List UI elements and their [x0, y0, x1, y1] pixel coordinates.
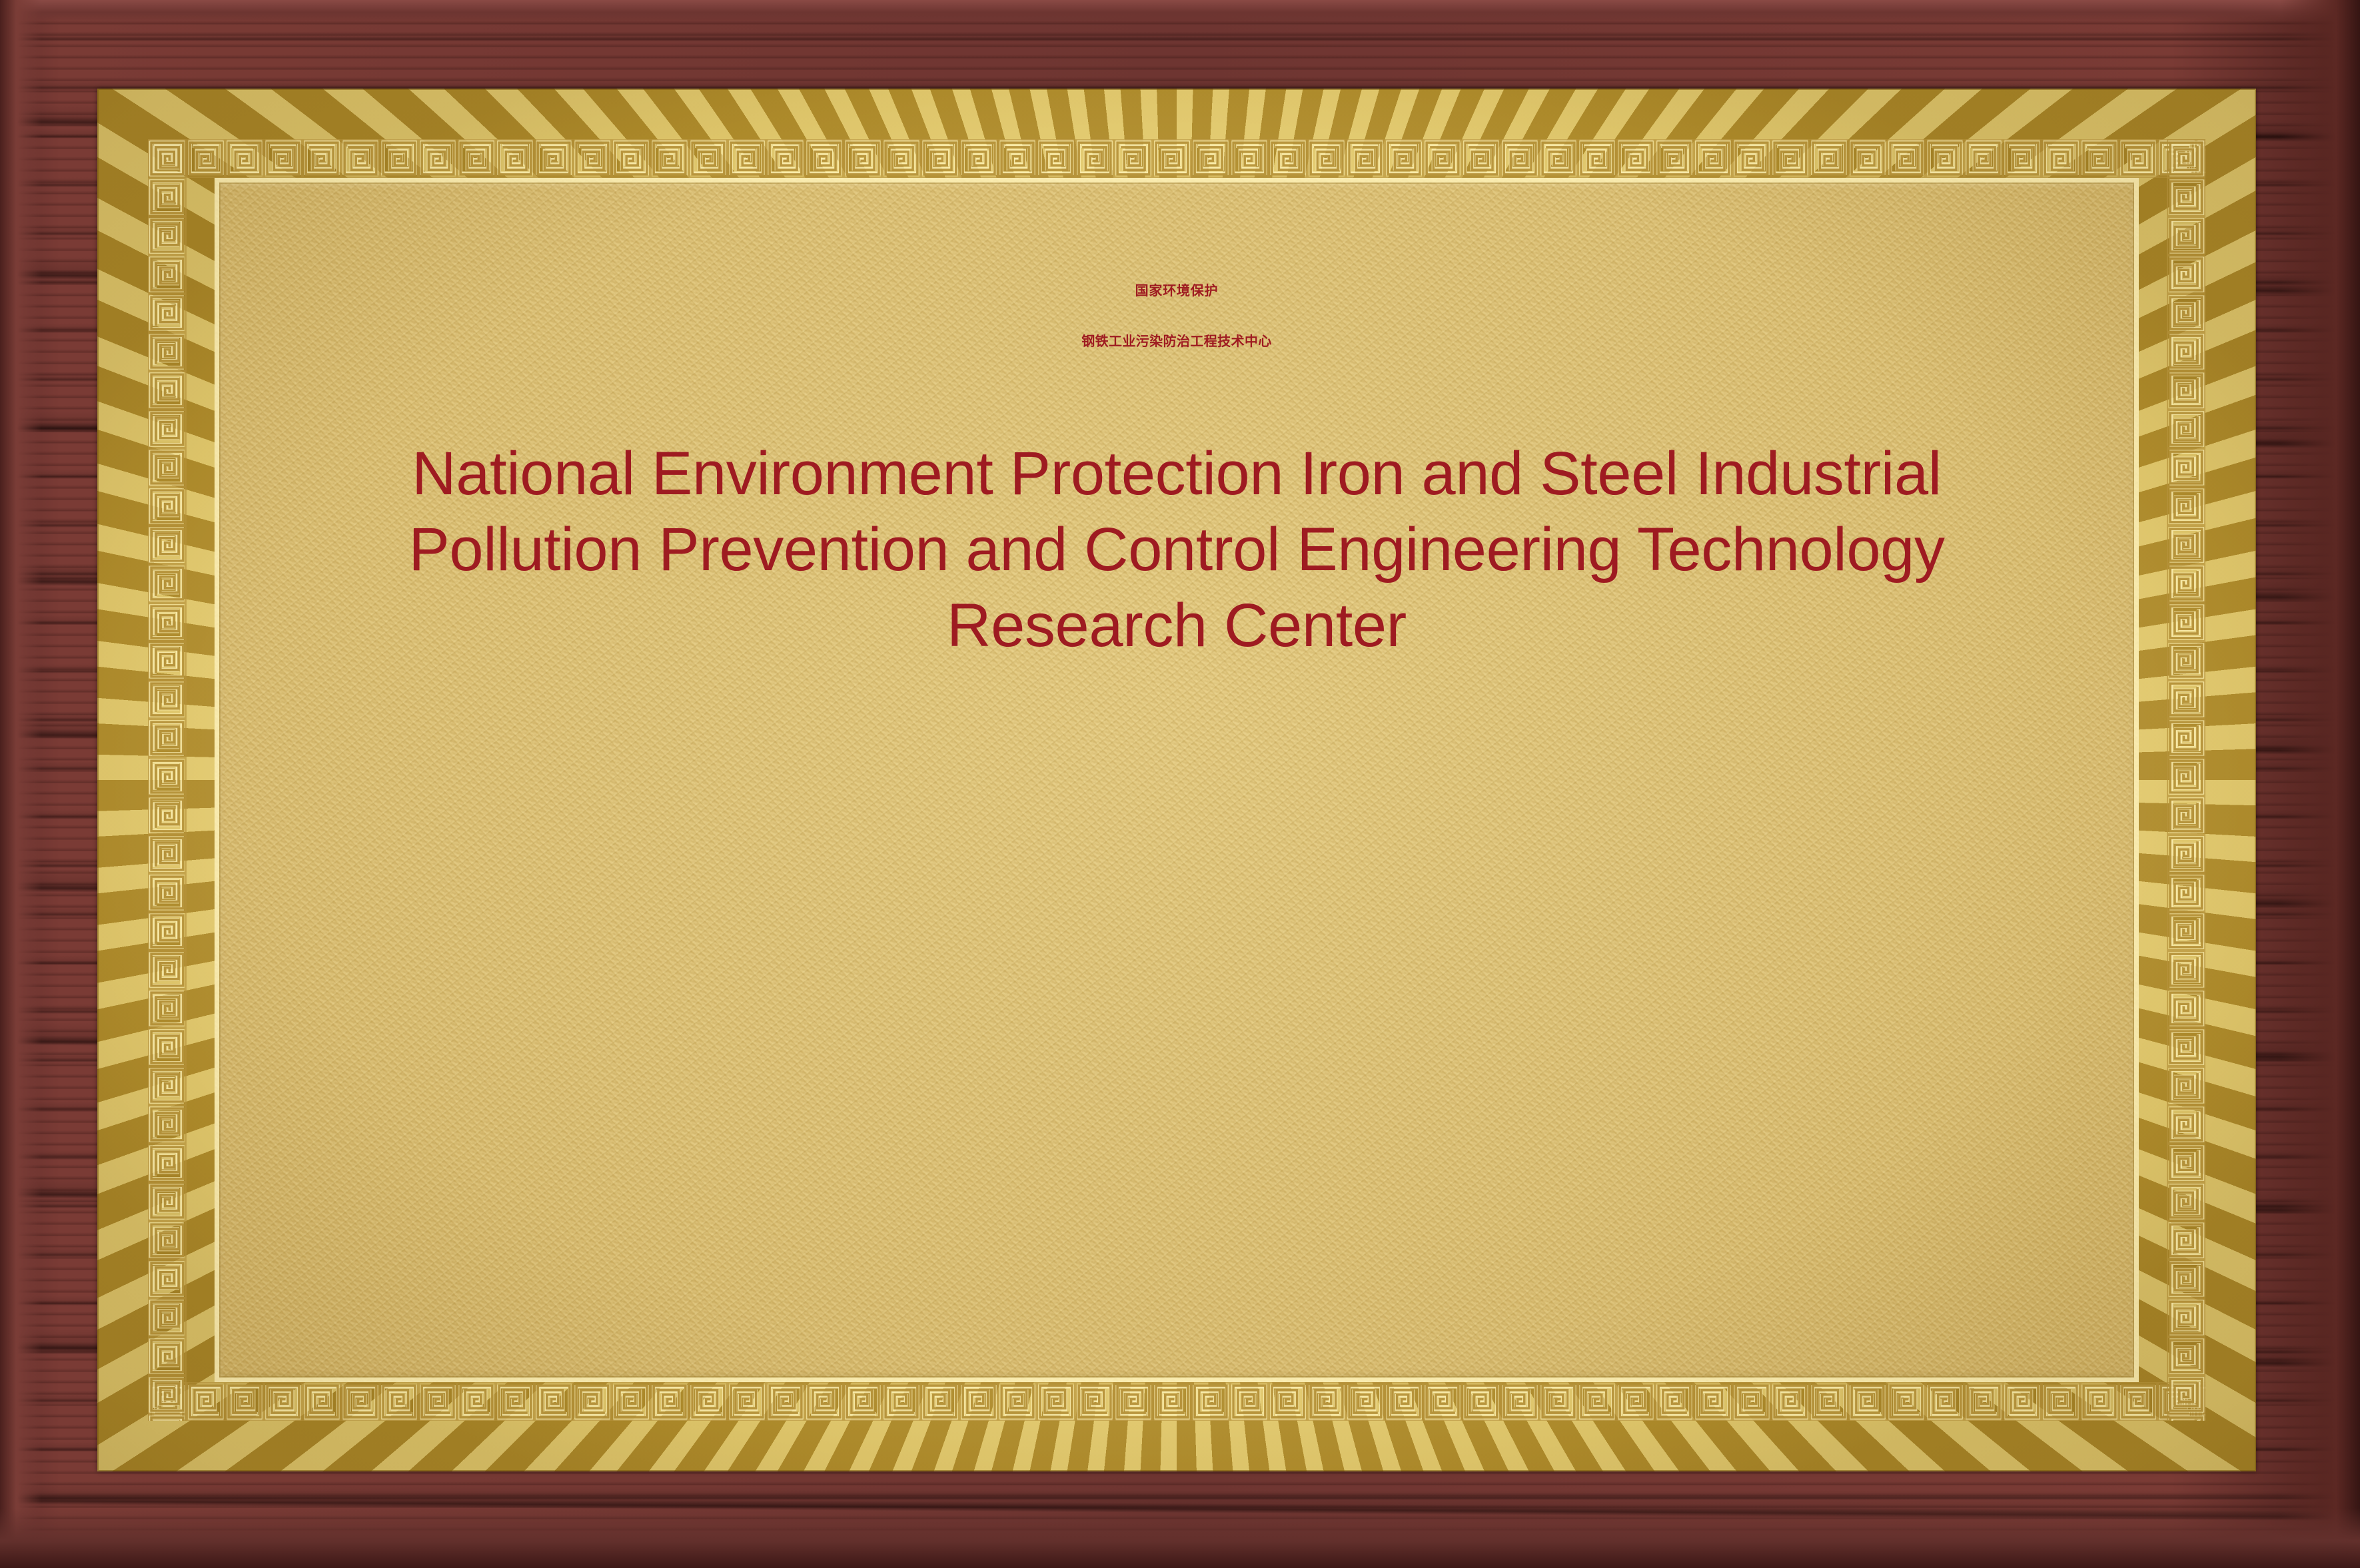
frame-bevel-right-edge [2280, 0, 2360, 1568]
frame-bevel-left-edge [0, 0, 41, 1568]
chinese-title-line-2: 钢铁工业污染防治工程技术中心 [219, 334, 2134, 348]
gold-plate: 国家环境保护 钢铁工业污染防治工程技术中心 National Environme… [97, 89, 2256, 1471]
meander-border-bottom [148, 1382, 2205, 1421]
english-subtitle-line-2: Pollution Prevention and Control Enginee… [306, 512, 2048, 588]
english-subtitle-line-1: National Environment Protection Iron and… [306, 436, 2048, 512]
inscription-text-stack: 国家环境保护 钢铁工业污染防治工程技术中心 National Environme… [219, 284, 2134, 663]
meander-border-left [148, 139, 187, 1421]
inscription-panel: 国家环境保护 钢铁工业污染防治工程技术中心 National Environme… [215, 178, 2139, 1382]
frame-bevel-bottom-edge [0, 1508, 2360, 1568]
english-subtitle-line-3: Research Center [306, 588, 2048, 663]
meander-border-top [148, 139, 2205, 178]
meander-border-right [2167, 139, 2205, 1421]
chinese-title-line-1: 国家环境保护 [219, 284, 2134, 297]
english-subtitle-block: National Environment Protection Iron and… [219, 436, 2134, 663]
plaque-wooden-frame: 国家环境保护 钢铁工业污染防治工程技术中心 National Environme… [0, 0, 2360, 1568]
frame-bevel-top-edge [0, 0, 2360, 23]
